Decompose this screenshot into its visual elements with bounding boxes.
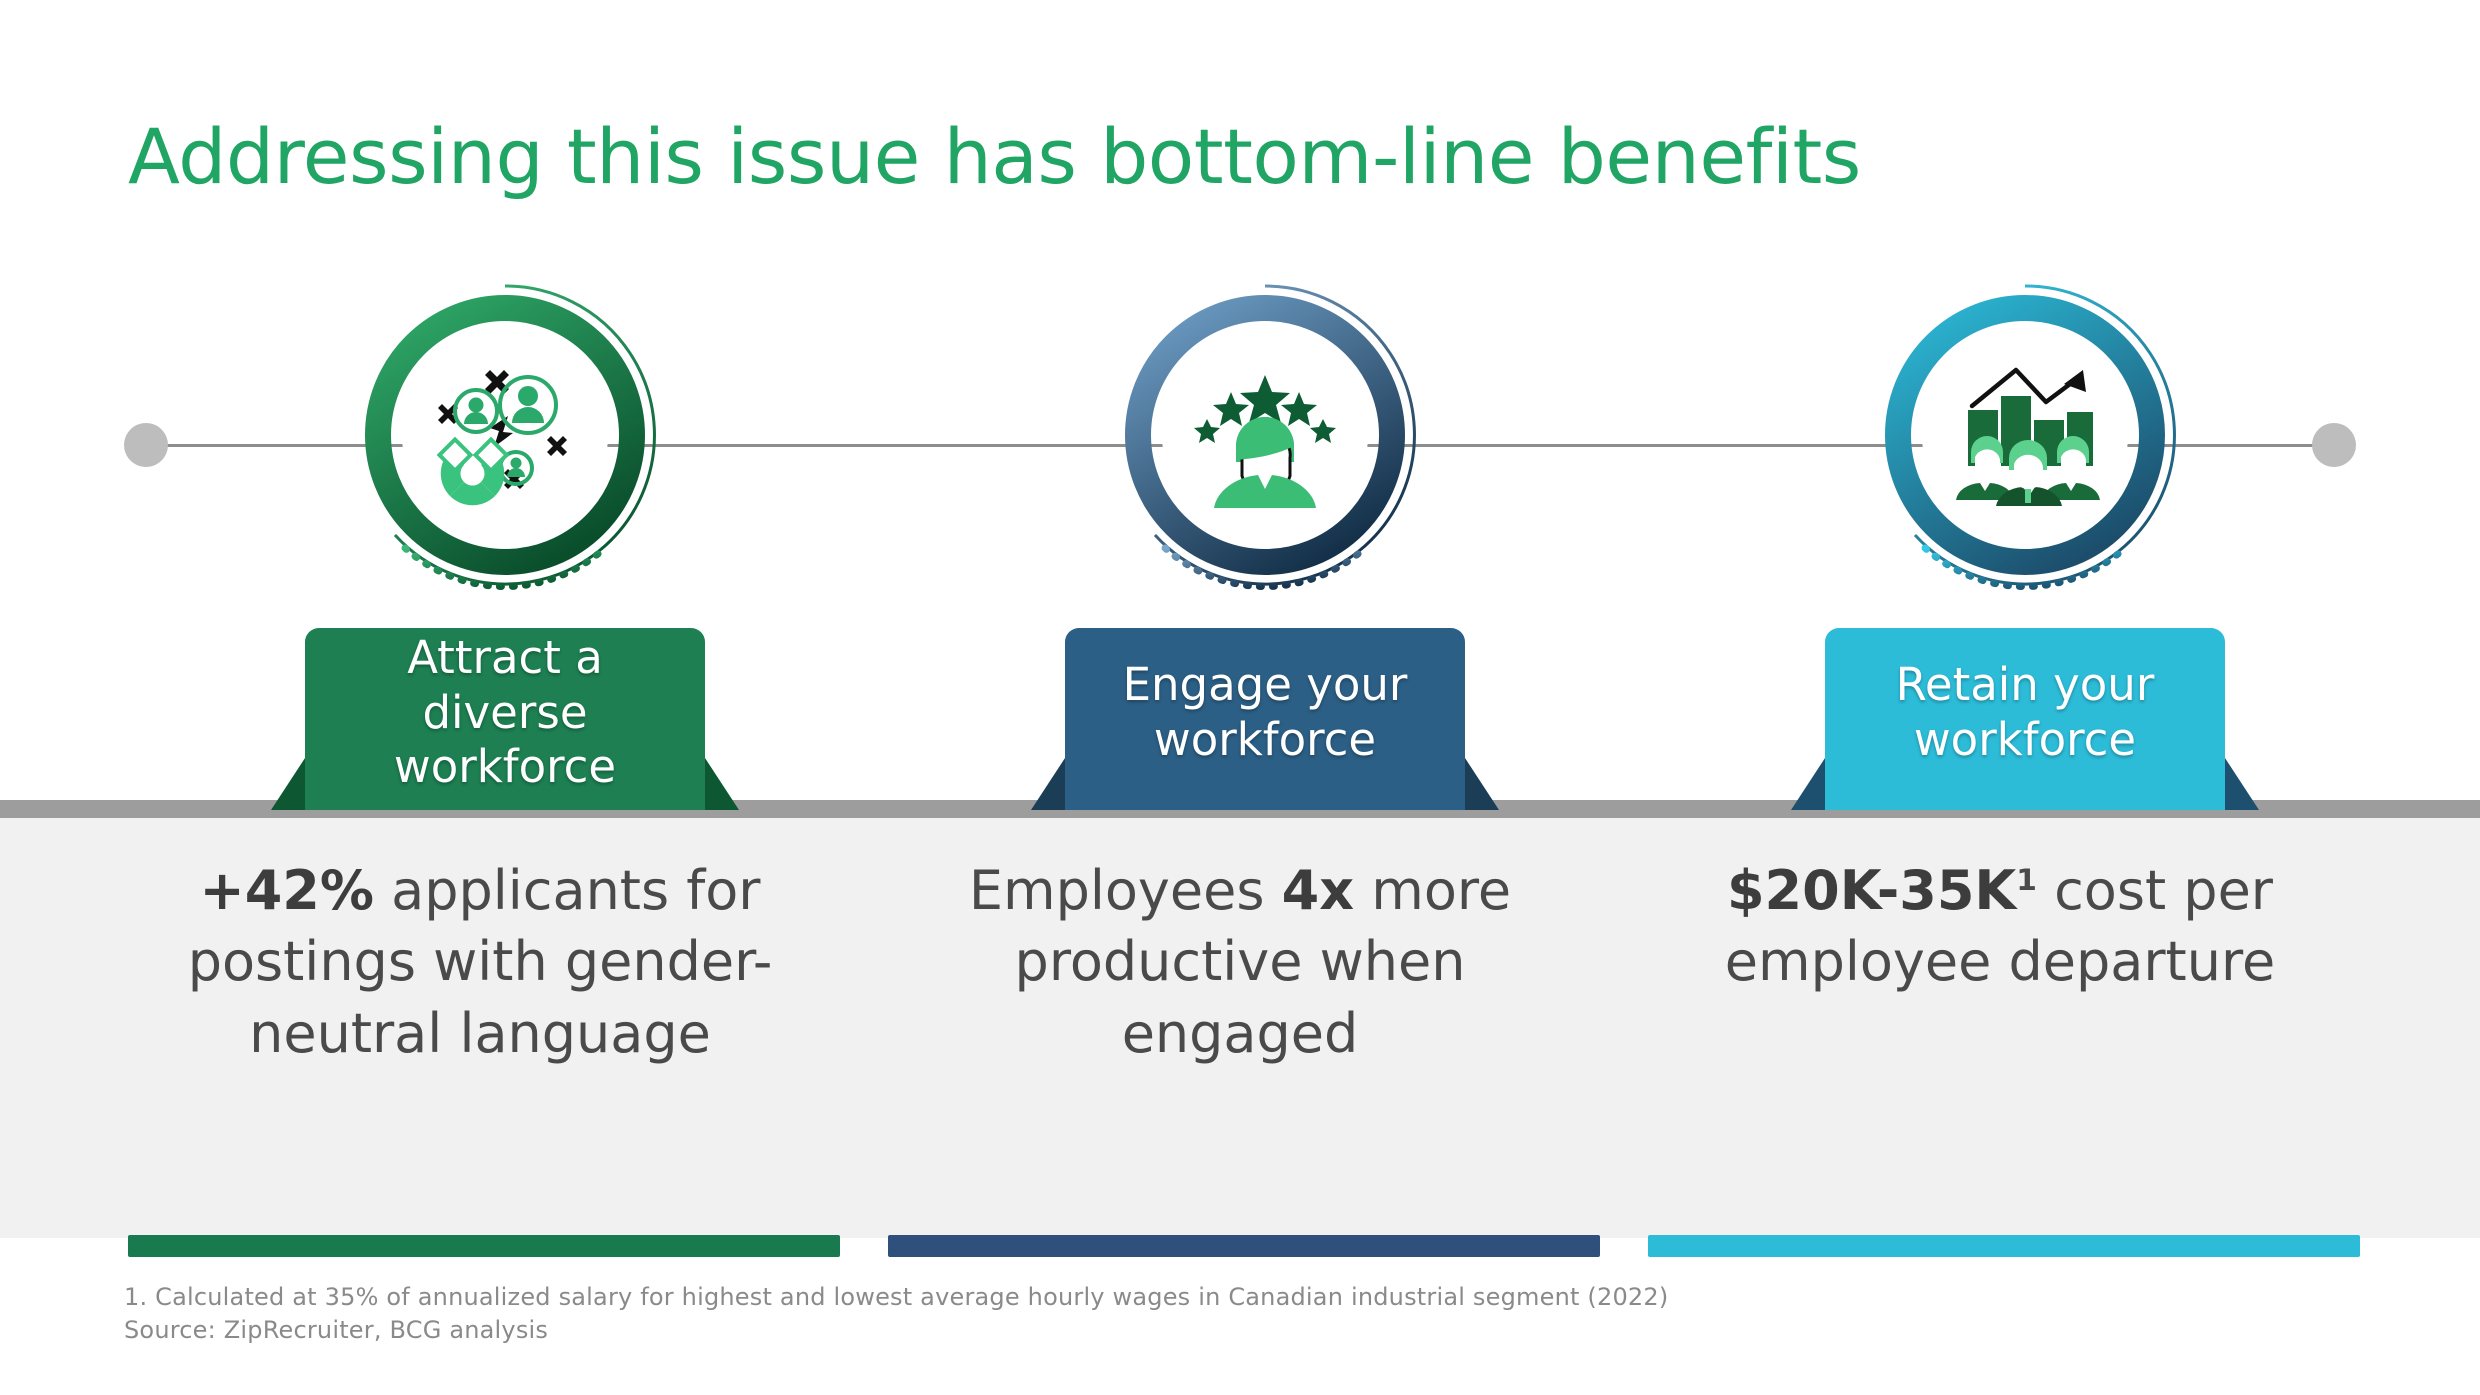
benefit-column-engage: Engage your workforce Employees 4x more … xyxy=(880,0,1600,1395)
footnote-line-1: 1. Calculated at 35% of annualized salar… xyxy=(124,1281,1668,1314)
medallion-attract xyxy=(350,280,660,590)
five-star-employee-icon xyxy=(1178,348,1352,522)
banner-line1-engage: Engage your xyxy=(1123,658,1408,711)
footnote-line-2: Source: ZipRecruiter, BCG analysis xyxy=(124,1314,1668,1347)
banner-label-engage: Engage your workforce xyxy=(1065,628,1465,810)
banner-retain[interactable]: Retain your workforce xyxy=(1825,628,2225,810)
magnet-attracting-people-icon xyxy=(418,348,592,522)
stat-prefix-engage: Employees xyxy=(969,859,1282,922)
banner-fold-left-engage xyxy=(1031,758,1065,810)
benefit-column-attract: Attract a diverse workforce +42% applica… xyxy=(120,0,840,1395)
banner-engage[interactable]: Engage your workforce xyxy=(1065,628,1465,810)
banner-fold-right-retain xyxy=(2225,758,2259,810)
medallion-retain xyxy=(1870,280,2180,590)
slide-canvas: Addressing this issue has bottom-line be… xyxy=(0,0,2480,1395)
banner-fold-right-attract xyxy=(705,758,739,810)
accent-bar-attract xyxy=(128,1235,840,1257)
stat-value-retain: $20K-35K xyxy=(1727,859,2016,922)
medallion-engage xyxy=(1110,280,1420,590)
banner-line1-retain: Retain your xyxy=(1896,658,2155,711)
banner-line2-engage: workforce xyxy=(1154,713,1376,766)
banner-fold-left-attract xyxy=(271,758,305,810)
banner-line1-attract: Attract a diverse xyxy=(407,631,603,739)
banner-label-attract: Attract a diverse workforce xyxy=(305,628,705,810)
stat-engage: Employees 4x more productive when engage… xyxy=(910,855,1570,1069)
footnotes: 1. Calculated at 35% of annualized salar… xyxy=(124,1281,1668,1347)
stat-value-attract: +42% xyxy=(199,859,374,922)
stat-attract: +42% applicants for postings with gender… xyxy=(150,855,810,1069)
stat-retain: $20K-35K1 cost per employee departure xyxy=(1670,855,2330,998)
banner-fold-right-engage xyxy=(1465,758,1499,810)
banner-line2-retain: workforce xyxy=(1914,713,2136,766)
stat-value-engage: 4x xyxy=(1282,859,1354,922)
banner-label-retain: Retain your workforce xyxy=(1825,628,2225,810)
banner-line2-attract: workforce xyxy=(394,740,616,793)
stat-footnote-marker-retain: 1 xyxy=(2016,863,2037,898)
accent-bar-retain xyxy=(1648,1235,2360,1257)
banner-attract[interactable]: Attract a diverse workforce xyxy=(305,628,705,810)
benefit-column-retain: Retain your workforce $20K-35K1 cost per… xyxy=(1640,0,2360,1395)
accent-bar-engage xyxy=(888,1235,1600,1257)
banner-fold-left-retain xyxy=(1791,758,1825,810)
team-growth-chart-icon xyxy=(1938,348,2112,522)
